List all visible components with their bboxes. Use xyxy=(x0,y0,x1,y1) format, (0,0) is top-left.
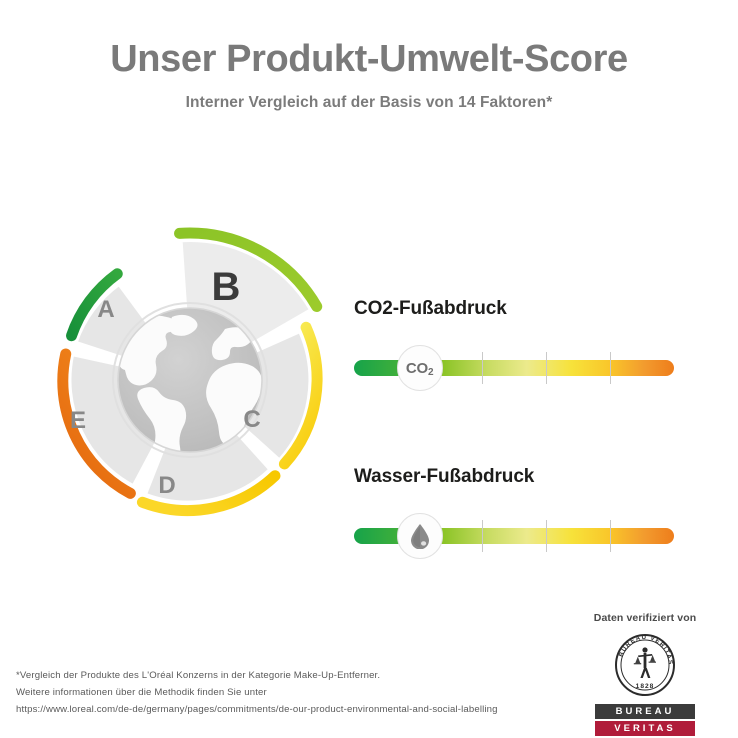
footnote-url[interactable]: https://www.loreal.com/de-de/germany/pag… xyxy=(16,702,576,719)
water-footprint-scale xyxy=(352,514,674,558)
scale-tick xyxy=(610,352,611,384)
footnote-line-1: *Vergleich der Produkte des L'Oréal Konz… xyxy=(16,668,576,685)
footnotes: *Vergleich der Produkte des L'Oréal Konz… xyxy=(16,668,576,718)
scale-tick xyxy=(610,520,611,552)
wordmark-bureau: BUREAU xyxy=(595,704,695,719)
water-drop-icon xyxy=(397,513,443,559)
footprint-panel: CO2-Fußabdruck CO2 Wasser-Fußabdruck xyxy=(352,298,692,558)
page-title: Unser Produkt-Umwelt-Score xyxy=(0,40,738,80)
verification-label: Daten verifiziert von xyxy=(560,612,730,624)
wordmark-veritas: VERITAS xyxy=(595,721,695,736)
wheel-label-b: B xyxy=(212,265,241,309)
footnote-line-2: Weitere informationen über die Methodik … xyxy=(16,685,576,702)
wheel-label-e: E xyxy=(70,407,86,434)
verification-block: Daten verifiziert von BUREAU VERITAS xyxy=(560,612,730,736)
header: Unser Produkt-Umwelt-Score Interner Verg… xyxy=(0,40,738,112)
scale-tick xyxy=(482,520,483,552)
co2-footprint: CO2-Fußabdruck CO2 xyxy=(352,298,692,390)
co2-marker-sub: 2 xyxy=(428,367,433,378)
water-footprint-title: Wasser-Fußabdruck xyxy=(354,466,692,488)
wheel-label-c: C xyxy=(243,406,260,433)
scale-tick xyxy=(482,352,483,384)
scale-tick xyxy=(546,520,547,552)
water-footprint: Wasser-Fußabdruck xyxy=(352,466,692,558)
bureau-veritas-logo: BUREAU VERITAS 1828 BUREAU VERITAS xyxy=(595,634,695,736)
wheel-label-a: A xyxy=(97,296,114,323)
co2-footprint-scale: CO2 xyxy=(352,346,674,390)
co2-icon: CO2 xyxy=(397,345,443,391)
co2-footprint-title: CO2-Fußabdruck xyxy=(354,298,692,320)
svg-text:1828: 1828 xyxy=(636,683,655,690)
co2-marker-label: CO xyxy=(406,360,428,377)
scale-tick xyxy=(546,352,547,384)
environmental-score-wheel: A B C D E xyxy=(20,225,360,545)
wheel-label-d: D xyxy=(158,472,175,499)
bureau-veritas-wordmark: BUREAU VERITAS xyxy=(595,704,695,736)
page-subtitle: Interner Vergleich auf der Basis von 14 … xyxy=(0,94,738,112)
